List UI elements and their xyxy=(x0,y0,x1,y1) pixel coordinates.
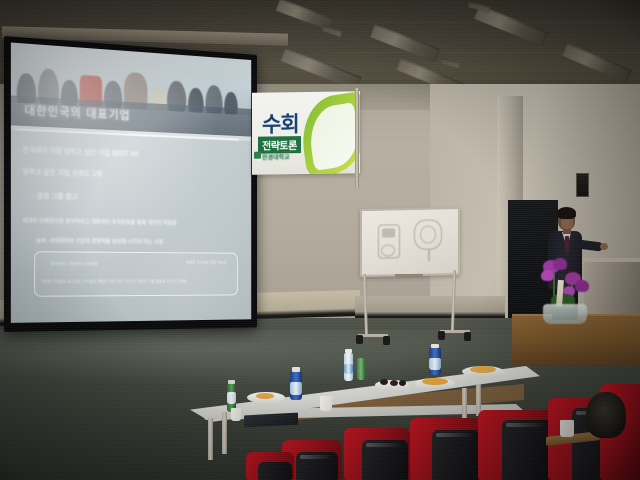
table-leg xyxy=(208,418,213,460)
presenter-tie xyxy=(565,236,569,252)
projection-screen: 대한민국의 대표기업 한국에서 가장 일하고 싶은 기업 BEST 30 일하고… xyxy=(4,36,257,332)
slide-bullet: 일하고 싶은 기업 선호도 1위 xyxy=(23,167,103,179)
bottle-label xyxy=(227,392,236,404)
bottle-label xyxy=(429,358,441,370)
banner-badge-icon xyxy=(254,152,261,159)
orchid-bloom xyxy=(541,270,554,281)
ceiling-light-fixture xyxy=(440,57,461,68)
bottle-label xyxy=(344,364,353,374)
callout-text-bottom: 이러한 기업들이 요구하는 우리들의 역량은 어떤 것이 있는가? 4차년 그룹… xyxy=(41,279,187,285)
paper-cup xyxy=(231,408,241,421)
callout-text-left: 창의적이고 개방적인 조직문화 xyxy=(50,261,97,267)
slide-bullet: 높여, 사회화하여 기업의 경쟁력을 완성해 나가야 하는 시점 xyxy=(36,236,163,245)
wall-baseboard xyxy=(355,296,505,318)
orchid-bloom xyxy=(575,280,589,292)
slide-body: 한국에서 가장 일하고 싶은 기업 BEST 30 일하고 싶은 기업 선호도 … xyxy=(11,130,251,323)
table-leg xyxy=(222,412,227,454)
green-bottle-small xyxy=(357,358,365,380)
paper-cup xyxy=(320,396,332,411)
presenter-hand xyxy=(600,243,608,250)
slide-bullet: 체계적 인재관리와 창의적이고 개방적인 조직문화를 통해 개인의 역량을 xyxy=(23,216,177,226)
slide-bullet: - 삼성 그룹 참고 xyxy=(32,191,77,202)
whiteboard xyxy=(360,207,460,277)
dark-fruit xyxy=(380,379,388,385)
callout-text-right: 실제적 국가대표 경쟁 가능성 xyxy=(186,260,227,266)
paper-cup-on-tablet-arm xyxy=(560,420,574,437)
conference-hall-photo: 대한민국의 대표기업 한국에서 가장 일하고 싶은 기업 BEST 30 일하고… xyxy=(0,0,640,480)
projection-screen-surface: 대한민국의 대표기업 한국에서 가장 일하고 싶은 기업 BEST 30 일하고… xyxy=(11,43,251,323)
snack-food xyxy=(470,366,496,373)
presenter-hair xyxy=(557,207,576,219)
whiteboard-marker-tray xyxy=(395,274,423,278)
table-leg xyxy=(462,388,467,422)
banner-subtitle: 전략토론 xyxy=(258,136,301,154)
snack-food xyxy=(422,378,448,385)
event-banner: 수회 전략토론 한경대학교 xyxy=(252,91,360,175)
banner-pole xyxy=(355,88,359,188)
flower-arrangement xyxy=(537,258,595,324)
orchid-bloom xyxy=(553,258,567,270)
whiteboard-caster xyxy=(464,332,471,341)
whiteboard-caster xyxy=(383,336,390,345)
whiteboard-caster xyxy=(356,335,363,344)
dark-fruit xyxy=(390,380,398,386)
wall-speaker-icon xyxy=(576,173,589,197)
banner-footnote: 한경대학교 xyxy=(262,152,290,161)
bottle-label xyxy=(290,382,302,395)
seated-attendee-head xyxy=(586,392,626,438)
ceiling-light-fixture xyxy=(322,25,343,37)
ceiling-light-fixture xyxy=(370,24,440,62)
whiteboard-caster xyxy=(438,331,445,340)
flower-basket xyxy=(543,304,587,324)
banner-headline: 수회 xyxy=(262,108,299,139)
dark-fruit xyxy=(399,380,406,386)
slide-callout-box: 창의적이고 개방적인 조직문화 실제적 국가대표 경쟁 가능성 이러한 기업들이… xyxy=(34,251,238,297)
snack-food xyxy=(256,393,274,399)
slide-bullet: 한국에서 가장 일하고 싶은 기업 BEST 30 xyxy=(23,145,139,159)
